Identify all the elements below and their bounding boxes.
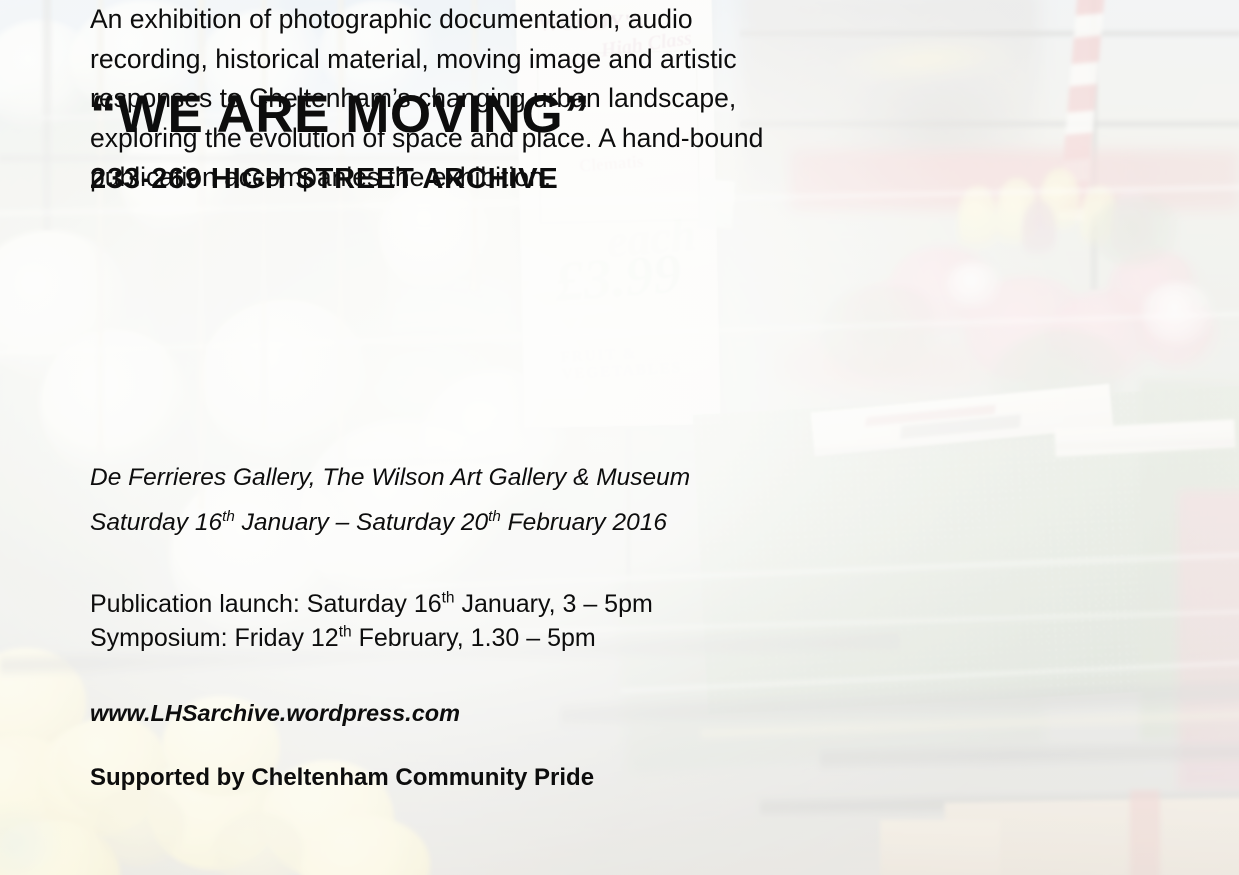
supporter-credit: Supported by Cheltenham Community Pride bbox=[90, 766, 594, 790]
symposium-line: Symposium: Friday 12th February, 1.30 – … bbox=[90, 626, 596, 651]
symposium-ordinal: th bbox=[339, 624, 352, 641]
page-title: “WE ARE MOVING” bbox=[90, 88, 590, 141]
dates-open-ordinal: th bbox=[222, 508, 235, 525]
venue-line: De Ferrieres Gallery, The Wilson Art Gal… bbox=[90, 466, 690, 491]
poster-subtitle: 233-269 HIGH STREET ARCHIVE bbox=[90, 165, 559, 194]
exhibition-poster: WOODY'S High Class Clematis each £3.99 F… bbox=[0, 0, 1239, 875]
exhibition-dates-line: Saturday 16th January – Saturday 20th Fe… bbox=[90, 511, 667, 536]
symposium-rest: February, 1.30 – 5pm bbox=[352, 624, 596, 652]
launch-rest: January, 3 – 5pm bbox=[455, 590, 653, 618]
dates-close-ordinal: th bbox=[488, 508, 501, 525]
symposium-lead: Symposium: Friday 12 bbox=[90, 624, 339, 652]
poster-text-block: “WE ARE MOVING” 233-269 HIGH STREET ARCH… bbox=[90, 0, 1150, 875]
website-url[interactable]: www.LHSarchive.wordpress.com bbox=[90, 702, 460, 726]
publication-launch-line: Publication launch: Saturday 16th Januar… bbox=[90, 592, 653, 617]
dates-open-day: Saturday 16 bbox=[90, 509, 222, 536]
launch-ordinal: th bbox=[442, 590, 455, 607]
dates-close-month: February 2016 bbox=[501, 509, 667, 536]
launch-lead: Publication launch: Saturday 16 bbox=[90, 590, 442, 618]
dates-open-month: January – Saturday 20 bbox=[235, 509, 488, 536]
